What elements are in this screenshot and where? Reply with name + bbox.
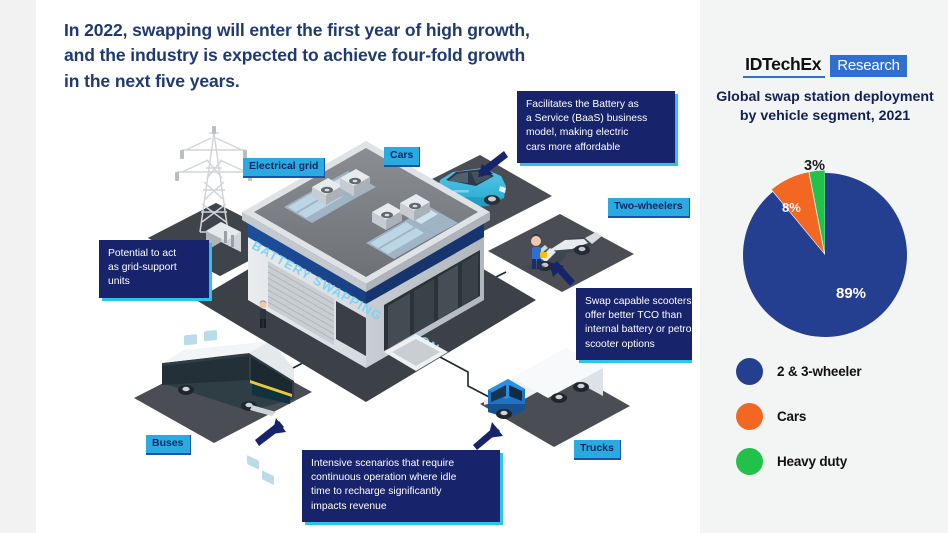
legend-label: Heavy duty	[777, 454, 847, 469]
legend-item-cars: Cars	[736, 403, 936, 430]
pie-label-2-3-wheeler: 89%	[836, 285, 866, 302]
pie-chart: 89% 8% 3%	[714, 160, 936, 350]
two-wheeler-scene	[488, 214, 634, 292]
tag-trucks: Trucks	[574, 440, 621, 460]
truck-scene	[480, 348, 630, 447]
callout-scooter-tco: Swap capable scooters offer better TCO t…	[576, 288, 692, 360]
callout-baas-model: Facilitates the Battery as a Service (Ba…	[517, 91, 675, 163]
legend-swatch-icon	[736, 448, 763, 475]
right-panel: IDTechEx Research Global swap station de…	[700, 0, 948, 533]
callout-grid-support: Potential to act as grid-support units	[99, 240, 209, 298]
legend-item-heavy-duty: Heavy duty	[736, 448, 936, 475]
legend-label: 2 & 3-wheeler	[777, 364, 861, 379]
pie-label-heavy-duty: 3%	[804, 158, 825, 174]
panel-divider	[692, 0, 700, 533]
chart-legend: 2 & 3-wheelerCarsHeavy duty	[736, 358, 936, 493]
legend-item-2-3-wheeler: 2 & 3-wheeler	[736, 358, 936, 385]
pie-slice-2-3-wheeler	[743, 173, 907, 337]
left-panel: In 2022, swapping will enter the first y…	[36, 0, 692, 533]
idtechex-logo: IDTechEx Research	[722, 54, 928, 78]
pie-chart-svg	[714, 160, 936, 350]
brand-research-badge: Research	[830, 55, 907, 77]
brand-name: IDTechEx	[743, 54, 825, 78]
tag-cars: Cars	[384, 147, 420, 167]
legend-label: Cars	[777, 409, 806, 424]
tag-two-wheelers: Two-wheelers	[608, 198, 690, 218]
infographic-page: In 2022, swapping will enter the first y…	[0, 0, 948, 533]
legend-swatch-icon	[736, 403, 763, 430]
legend-swatch-icon	[736, 358, 763, 385]
tag-electrical-grid: Electrical grid	[243, 158, 325, 178]
chart-title: Global swap station deployment by vehicl…	[714, 88, 936, 126]
pie-label-cars: 8%	[782, 200, 801, 215]
tag-buses: Buses	[146, 435, 191, 455]
callout-intensive-scenarios: Intensive scenarios that require continu…	[302, 450, 500, 522]
